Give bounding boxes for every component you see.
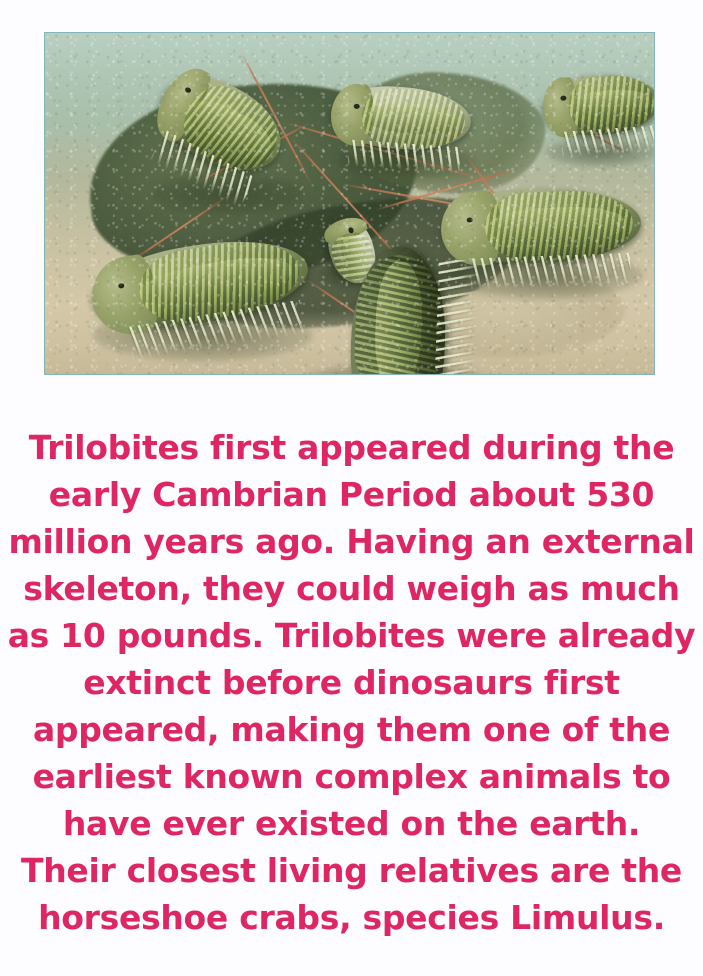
caption-line: have ever existed on the earth. [0,800,703,847]
sand-grain-texture [45,33,654,374]
caption-text-block: Trilobites first appeared during the ear… [0,424,703,941]
caption-line: extinct before dinosaurs first [0,659,703,706]
caption-line: as 10 pounds. Trilobites were already [0,612,703,659]
caption-line: Trilobites first appeared during the [0,424,703,471]
info-card-page: Trilobites first appeared during the ear… [0,0,703,976]
caption-line: earliest known complex animals to [0,753,703,800]
caption-line: skeleton, they could weigh as much [0,565,703,612]
caption-line: million years ago. Having an external [0,518,703,565]
caption-line: appeared, making them one of the [0,706,703,753]
caption-line: early Cambrian Period about 530 [0,471,703,518]
caption-line: Their closest living relatives are the [0,847,703,894]
photo-scene [45,33,654,374]
trilobite-photograph [44,32,655,375]
caption-line: horseshoe crabs, species Limulus. [0,894,703,941]
